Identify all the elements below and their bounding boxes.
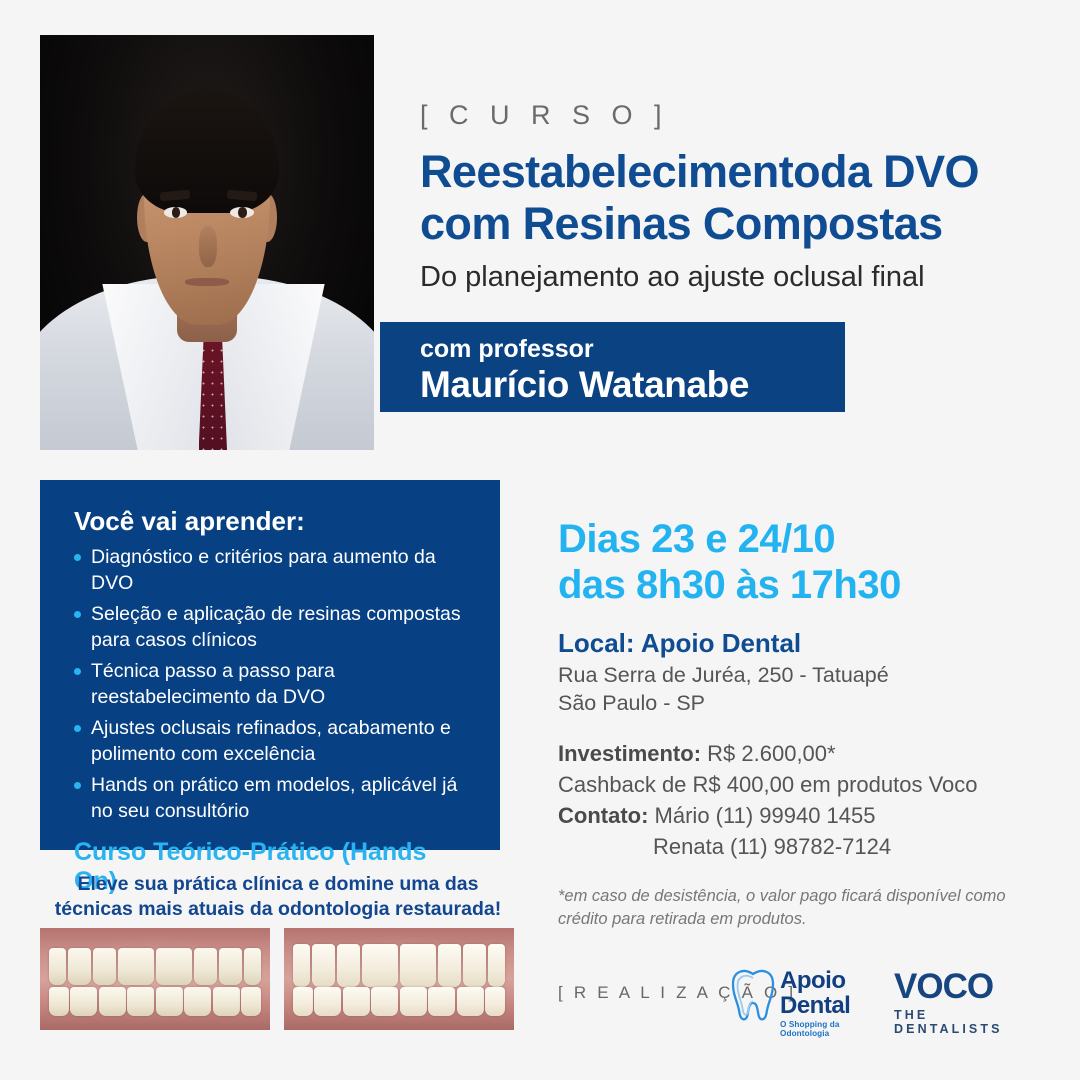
learning-topics-title: Você vai aprender:: [74, 506, 474, 537]
learning-topic-text: Técnica passo a passo para reestabelecim…: [91, 660, 335, 708]
investment-label: Investimento:: [558, 741, 701, 766]
contact-phone-1[interactable]: Mário (11) 99940 1455: [655, 803, 876, 828]
lower-teeth-row: [49, 987, 261, 1016]
refund-disclaimer: *em caso de desistência, o valor pago fi…: [558, 885, 1018, 931]
address-line-1: Rua Serra de Juréa, 250 - Tatuapé: [558, 661, 1028, 689]
upper-teeth-row: [293, 944, 505, 987]
course-kicker-label: [ C U R S O ]: [420, 100, 669, 131]
clinical-photo-before: [40, 928, 270, 1030]
voco-logo: VOCO THE DENTALISTS: [894, 969, 1034, 1029]
investment-row: Investimento: R$ 2.600,00*: [558, 738, 1038, 769]
apoio-tagline: O Shopping da Odontologia: [780, 1020, 880, 1038]
list-item: Seleção e aplicação de resinas compostas…: [74, 602, 474, 653]
professor-name: Maurício Watanabe: [420, 364, 845, 406]
learning-topic-text: Diagnóstico e critérios para aumento da …: [91, 546, 436, 594]
mouth: [185, 278, 228, 286]
promo-tagline: Eleve sua prática clínica e domine uma d…: [40, 872, 516, 922]
upper-teeth-row: [49, 948, 261, 985]
professor-portrait-photo: [40, 35, 374, 450]
eye-left: [164, 207, 187, 218]
bullet-icon: [74, 782, 81, 789]
professor-prefix-label: com professor: [420, 335, 845, 364]
bullet-icon: [74, 668, 81, 675]
nose: [199, 226, 217, 268]
learning-topic-text: Hands on prático em modelos, aplicável j…: [91, 774, 457, 822]
course-title-line-2: com Resinas Compostas: [420, 198, 1030, 250]
footer-logos: [ R E A L I Z A Ç Ã O ] Apoio Dental O S…: [558, 965, 1038, 1035]
learning-topics-box: Você vai aprender: Diagnóstico e critéri…: [40, 480, 500, 850]
bullet-icon: [74, 725, 81, 732]
bullet-icon: [74, 611, 81, 618]
apoio-word-1: Apoio: [780, 968, 880, 993]
pricing-and-contact: Investimento: R$ 2.600,00* Cashback de R…: [558, 738, 1038, 862]
lower-teeth-row: [293, 987, 505, 1016]
course-subtitle: Do planejamento ao ajuste oclusal final: [420, 261, 1030, 294]
eye-right: [230, 207, 253, 218]
tooth-icon: [730, 969, 776, 1023]
address-line-2: São Paulo - SP: [558, 689, 1028, 717]
contact-phone-2[interactable]: Renata (11) 98782-7124: [558, 831, 1038, 862]
bullet-icon: [74, 554, 81, 561]
investment-value: R$ 2.600,00*: [707, 741, 835, 766]
list-item: Técnica passo a passo para reestabelecim…: [74, 659, 474, 710]
list-item: Hands on prático em modelos, aplicável j…: [74, 773, 474, 824]
voco-tagline: THE DENTALISTS: [894, 1008, 1034, 1036]
event-dates: Dias 23 e 24/10 das 8h30 às 17h30: [558, 516, 1028, 608]
clinical-photo-after: [284, 928, 514, 1030]
cashback-row: Cashback de R$ 400,00 em produtos Voco: [558, 769, 1038, 800]
venue-address: Rua Serra de Juréa, 250 - Tatuapé São Pa…: [558, 661, 1028, 717]
venue-label: Local: Apoio Dental: [558, 628, 801, 659]
voco-wordmark: VOCO: [894, 969, 1034, 1005]
event-dates-line-2: das 8h30 às 17h30: [558, 562, 1028, 608]
course-title-line-1: Reestabelecimentoda DVO: [420, 146, 1030, 198]
contact-label: Contato:: [558, 803, 648, 828]
page-title: Reestabelecimentoda DVO com Resinas Comp…: [420, 146, 1030, 250]
learning-topic-text: Seleção e aplicação de resinas compostas…: [91, 603, 461, 651]
apoio-dental-logo: Apoio Dental O Shopping da Odontologia: [730, 965, 880, 1031]
apoio-dental-wordmark: Apoio Dental O Shopping da Odontologia: [780, 968, 880, 1038]
professor-banner: com professor Maurício Watanabe: [380, 322, 845, 412]
list-item: Diagnóstico e critérios para aumento da …: [74, 545, 474, 596]
contact-row: Contato: Mário (11) 99940 1455: [558, 800, 1038, 831]
learning-topic-text: Ajustes oclusais refinados, acabamento e…: [91, 717, 451, 765]
list-item: Ajustes oclusais refinados, acabamento e…: [74, 716, 474, 767]
event-dates-line-1: Dias 23 e 24/10: [558, 516, 1028, 562]
apoio-word-2: Dental: [780, 993, 880, 1018]
